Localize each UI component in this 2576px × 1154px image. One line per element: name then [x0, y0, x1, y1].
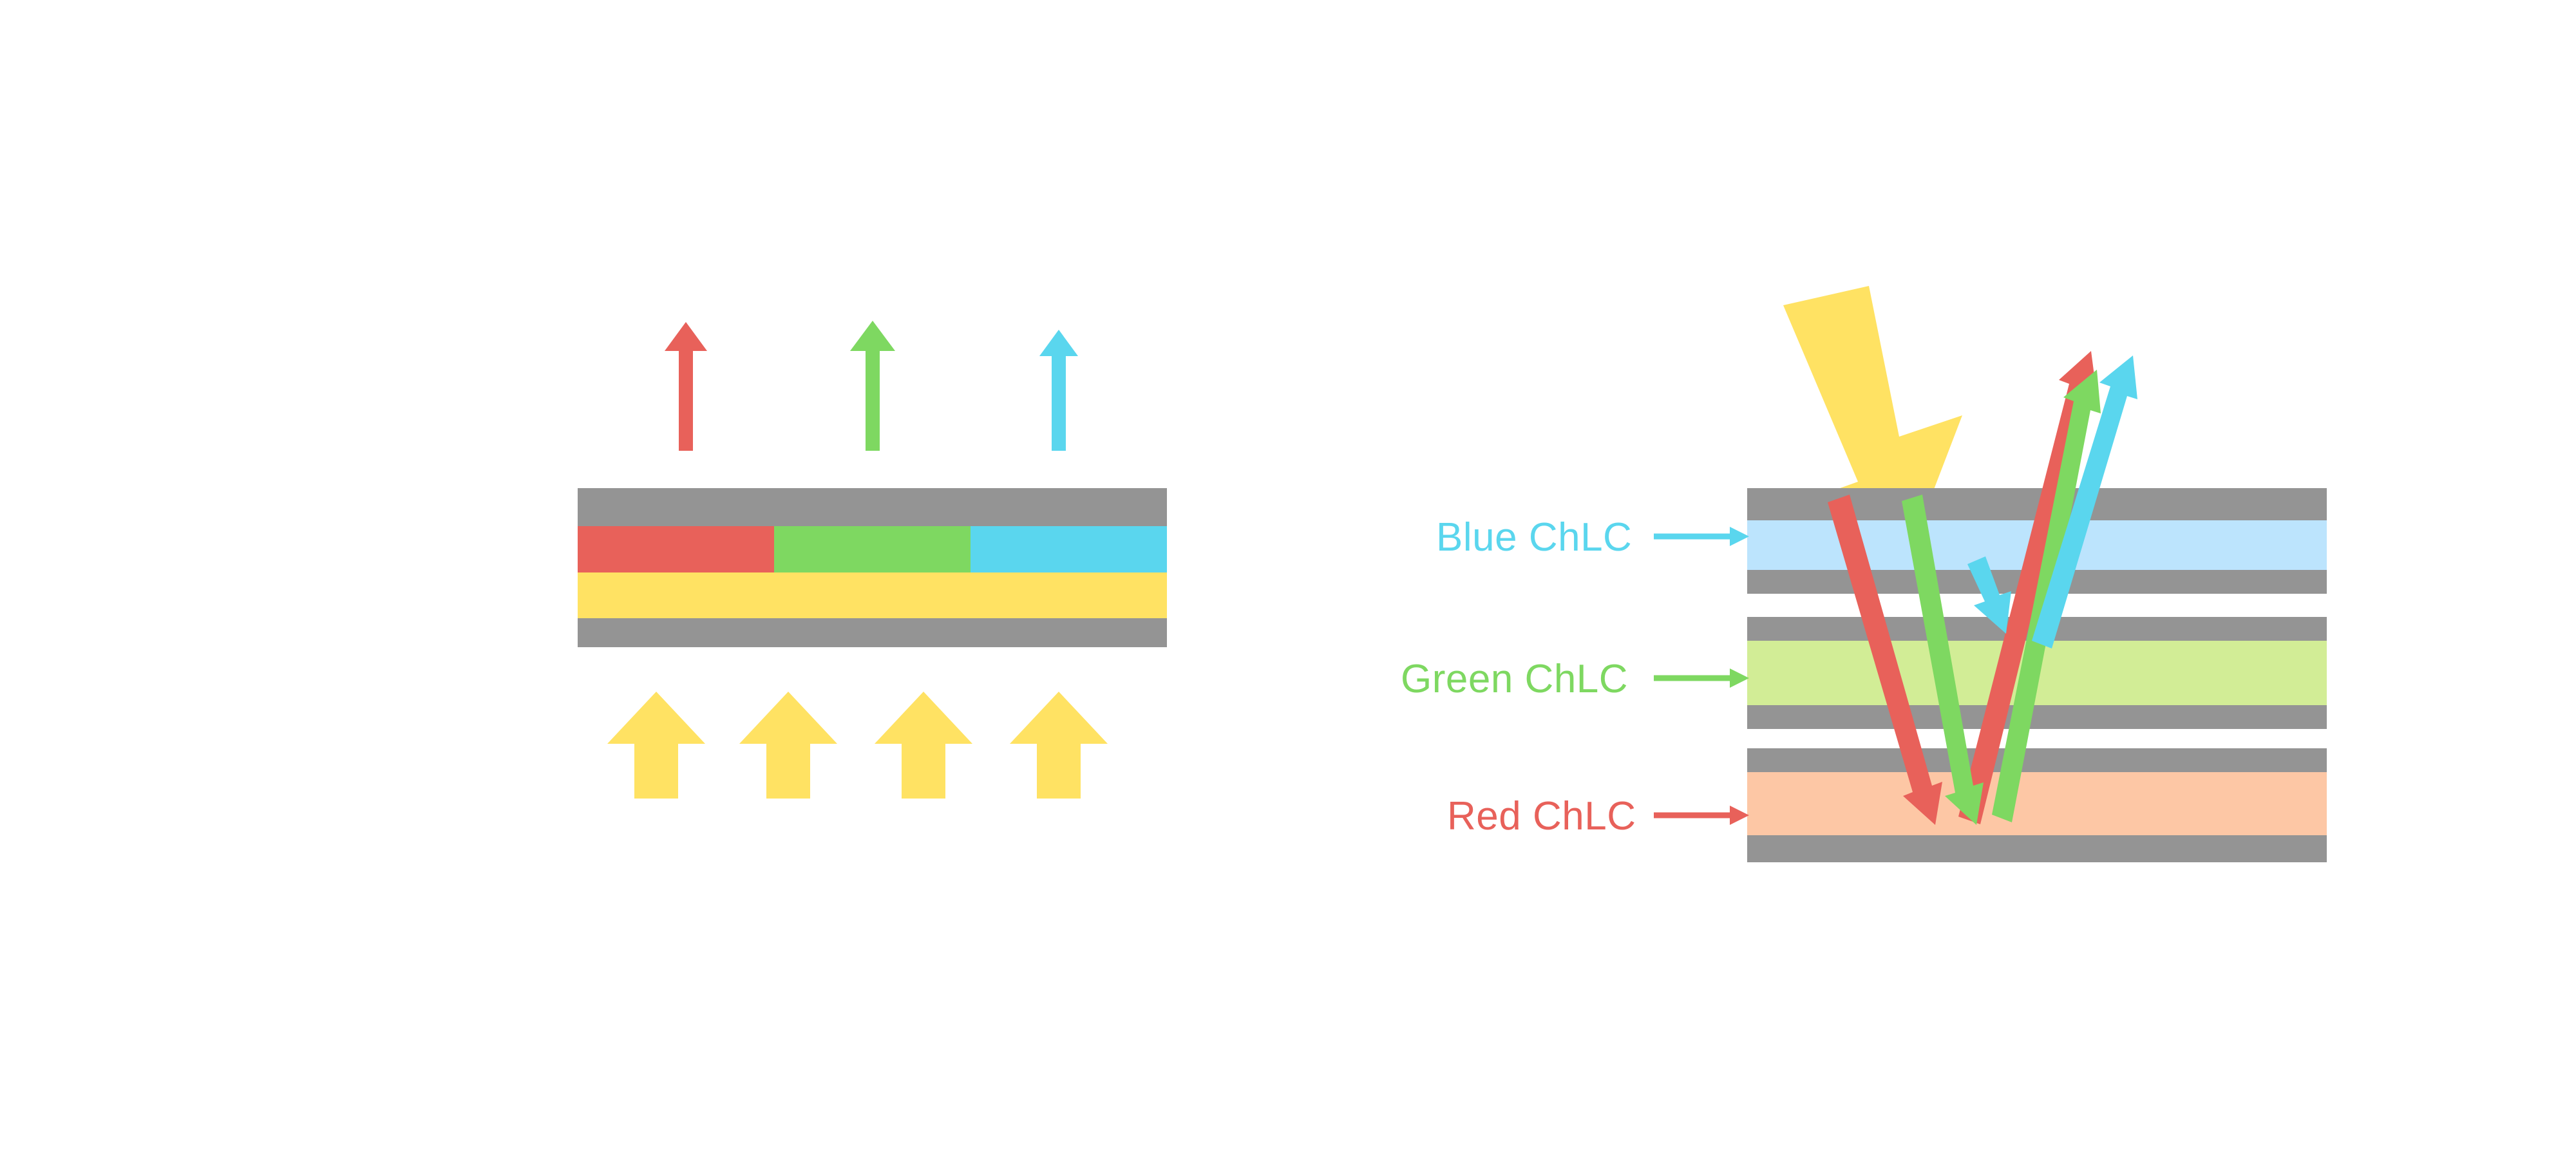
emitted-arrow-red — [665, 322, 707, 451]
red-cell-top-electrode — [1747, 748, 2327, 772]
backlight-arrow-4 — [1010, 692, 1108, 799]
right-panel-group — [1654, 286, 2327, 862]
blue-leader-arrowhead — [1730, 527, 1749, 546]
blue-arrow-shape — [1039, 330, 1078, 451]
label-leader-blue — [1654, 527, 1749, 546]
red-leader-arrowhead — [1730, 806, 1749, 825]
emitted-arrow-blue — [1039, 330, 1078, 451]
label-leader-green — [1654, 668, 1749, 688]
left-panel-group — [578, 321, 1167, 799]
diagram-canvas — [0, 0, 2576, 1154]
backlight-arrow-3 — [875, 692, 972, 799]
left-bottom-electrode — [578, 618, 1167, 647]
left-top-electrode — [578, 488, 1167, 526]
left-red-subpixel — [578, 526, 774, 572]
green-leader-arrowhead — [1730, 668, 1749, 688]
emitted-arrow-green — [850, 321, 895, 451]
left-green-subpixel — [774, 526, 971, 572]
red-arrow-shape — [665, 322, 707, 451]
backlight-arrow-group — [607, 692, 1108, 799]
diagram-stage: Blue ChLC Green ChLC Red ChLC — [0, 0, 2576, 1154]
red-chlc-label: Red ChLC — [1447, 793, 1636, 839]
label-leader-red — [1654, 806, 1749, 825]
left-backlight-layer — [578, 572, 1167, 618]
left-blue-subpixel — [971, 526, 1167, 572]
blue-chlc-label: Blue ChLC — [1436, 515, 1632, 560]
backlight-arrow-2 — [739, 692, 837, 799]
backlight-arrow-1 — [607, 692, 705, 799]
green-cell-bottom-electrode — [1747, 705, 2327, 729]
green-arrow-shape — [850, 321, 895, 451]
green-chlc-label: Green ChLC — [1401, 656, 1628, 702]
